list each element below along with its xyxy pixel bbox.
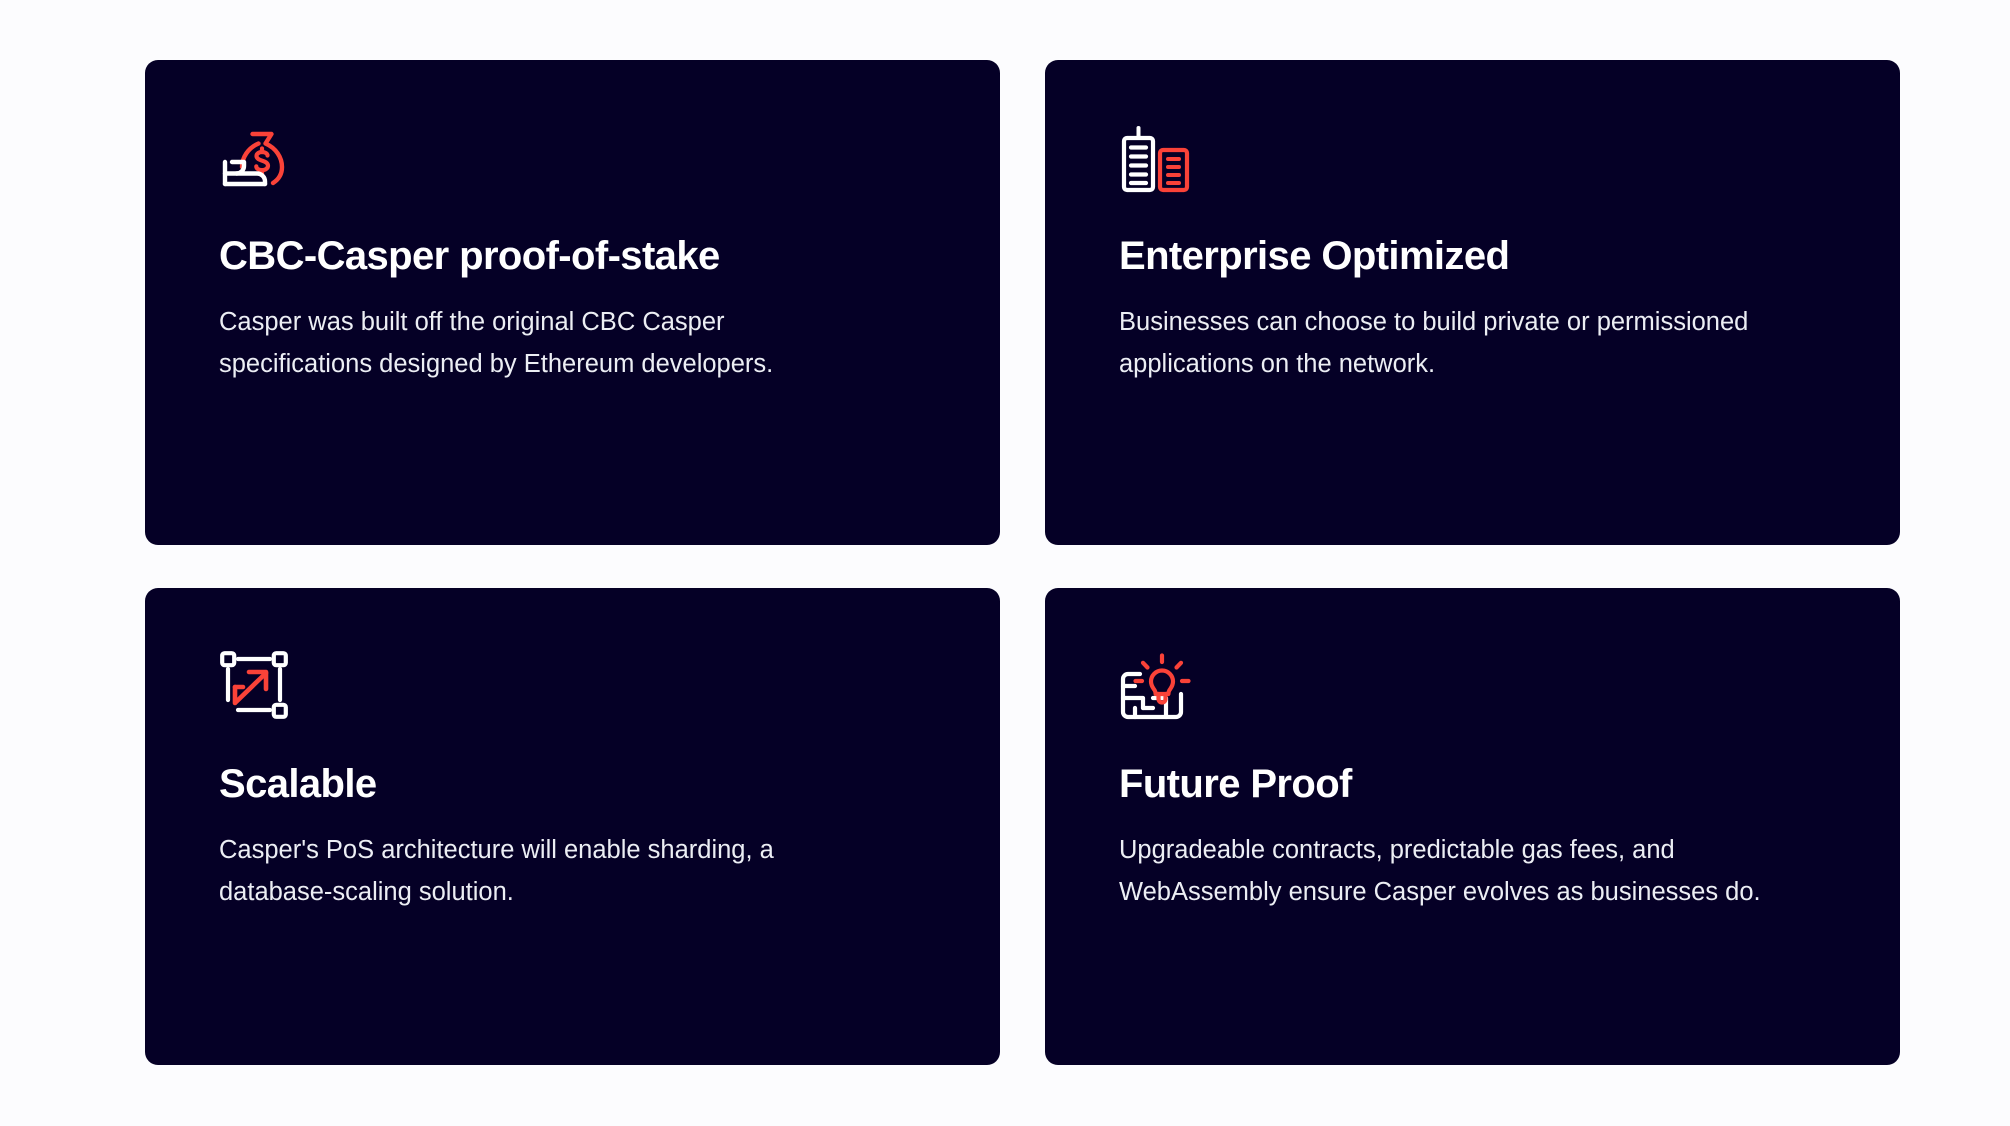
feature-description: Casper was built off the original CBC Ca… <box>219 301 879 386</box>
feature-description: Businesses can choose to build private o… <box>1119 301 1779 386</box>
money-bag-stake-icon <box>219 122 293 196</box>
feature-card-grid: CBC-Casper proof-of-stake Casper was bui… <box>145 60 1900 1065</box>
feature-card-future-proof[interactable]: Future Proof Upgradeable contracts, pred… <box>1045 588 1900 1065</box>
feature-title: Scalable <box>219 762 926 807</box>
feature-description: Upgradeable contracts, predictable gas f… <box>1119 829 1809 914</box>
feature-title: Future Proof <box>1119 762 1826 807</box>
lightbulb-circuit-icon <box>1119 650 1193 724</box>
feature-card-scalable[interactable]: Scalable Casper's PoS architecture will … <box>145 588 1000 1065</box>
feature-title: Enterprise Optimized <box>1119 234 1826 279</box>
feature-card-cbc-casper-proof-of-stake[interactable]: CBC-Casper proof-of-stake Casper was bui… <box>145 60 1000 545</box>
office-buildings-icon <box>1119 122 1193 196</box>
feature-title: CBC-Casper proof-of-stake <box>219 234 926 279</box>
feature-card-enterprise-optimized[interactable]: Enterprise Optimized Businesses can choo… <box>1045 60 1900 545</box>
scale-arrow-frame-icon <box>219 650 293 724</box>
feature-description: Casper's PoS architecture will enable sh… <box>219 829 859 914</box>
